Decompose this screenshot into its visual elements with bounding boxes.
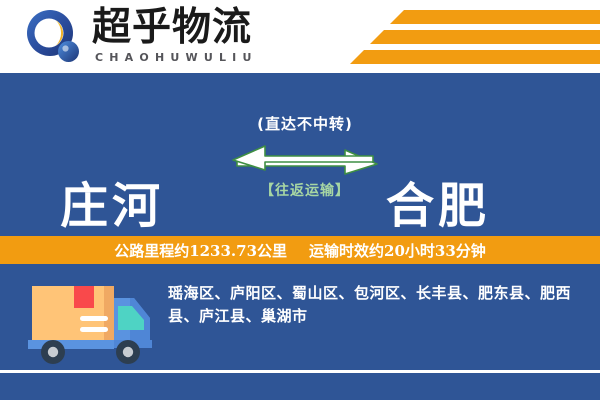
duration-text: 运输时效约20小时33分钟 <box>309 240 486 261</box>
coverage-section: 瑶海区、庐阳区、蜀山区、包河区、长丰县、肥东县、肥西县、庐江县、巢湖市 <box>0 264 600 400</box>
bidirectional-arrow-icon <box>227 140 383 176</box>
delivery-truck-icon <box>18 272 160 368</box>
brand-name: 超乎物流 <box>92 6 252 50</box>
route-section: 庄河 (直达不中转) 【往返运输】 合肥 <box>0 73 600 236</box>
route-middle: (直达不中转) 【往返运输】 <box>215 113 395 200</box>
stripe-1 <box>390 10 600 24</box>
shipping-info-bar: 公路里程约1233.73公里 运输时效约20小时33分钟 <box>0 236 600 264</box>
coverage-districts-text: 瑶海区、庐阳区、蜀山区、包河区、长丰县、肥东县、肥西县、庐江县、巢湖市 <box>168 282 578 328</box>
circular-q-logo-icon <box>26 9 82 65</box>
stripe-3 <box>350 50 600 64</box>
logistics-route-banner: 超乎物流 CHAOHUWULIU 庄河 (直达不中转) 【往返运输】 合肥 <box>0 0 600 400</box>
origin-city: 庄河 <box>60 166 164 236</box>
header-stripes-decoration <box>340 0 600 73</box>
ground-line-divider <box>0 370 600 373</box>
distance-text: 公路里程约1233.73公里 <box>114 240 287 261</box>
header: 超乎物流 CHAOHUWULIU <box>0 0 600 73</box>
destination-city: 合肥 <box>386 166 490 236</box>
direct-shipping-note: (直达不中转) <box>215 113 395 134</box>
stripe-2 <box>370 30 600 44</box>
brand-pinyin: CHAOHUWULIU <box>95 51 258 64</box>
roundtrip-note: 【往返运输】 <box>215 180 395 200</box>
